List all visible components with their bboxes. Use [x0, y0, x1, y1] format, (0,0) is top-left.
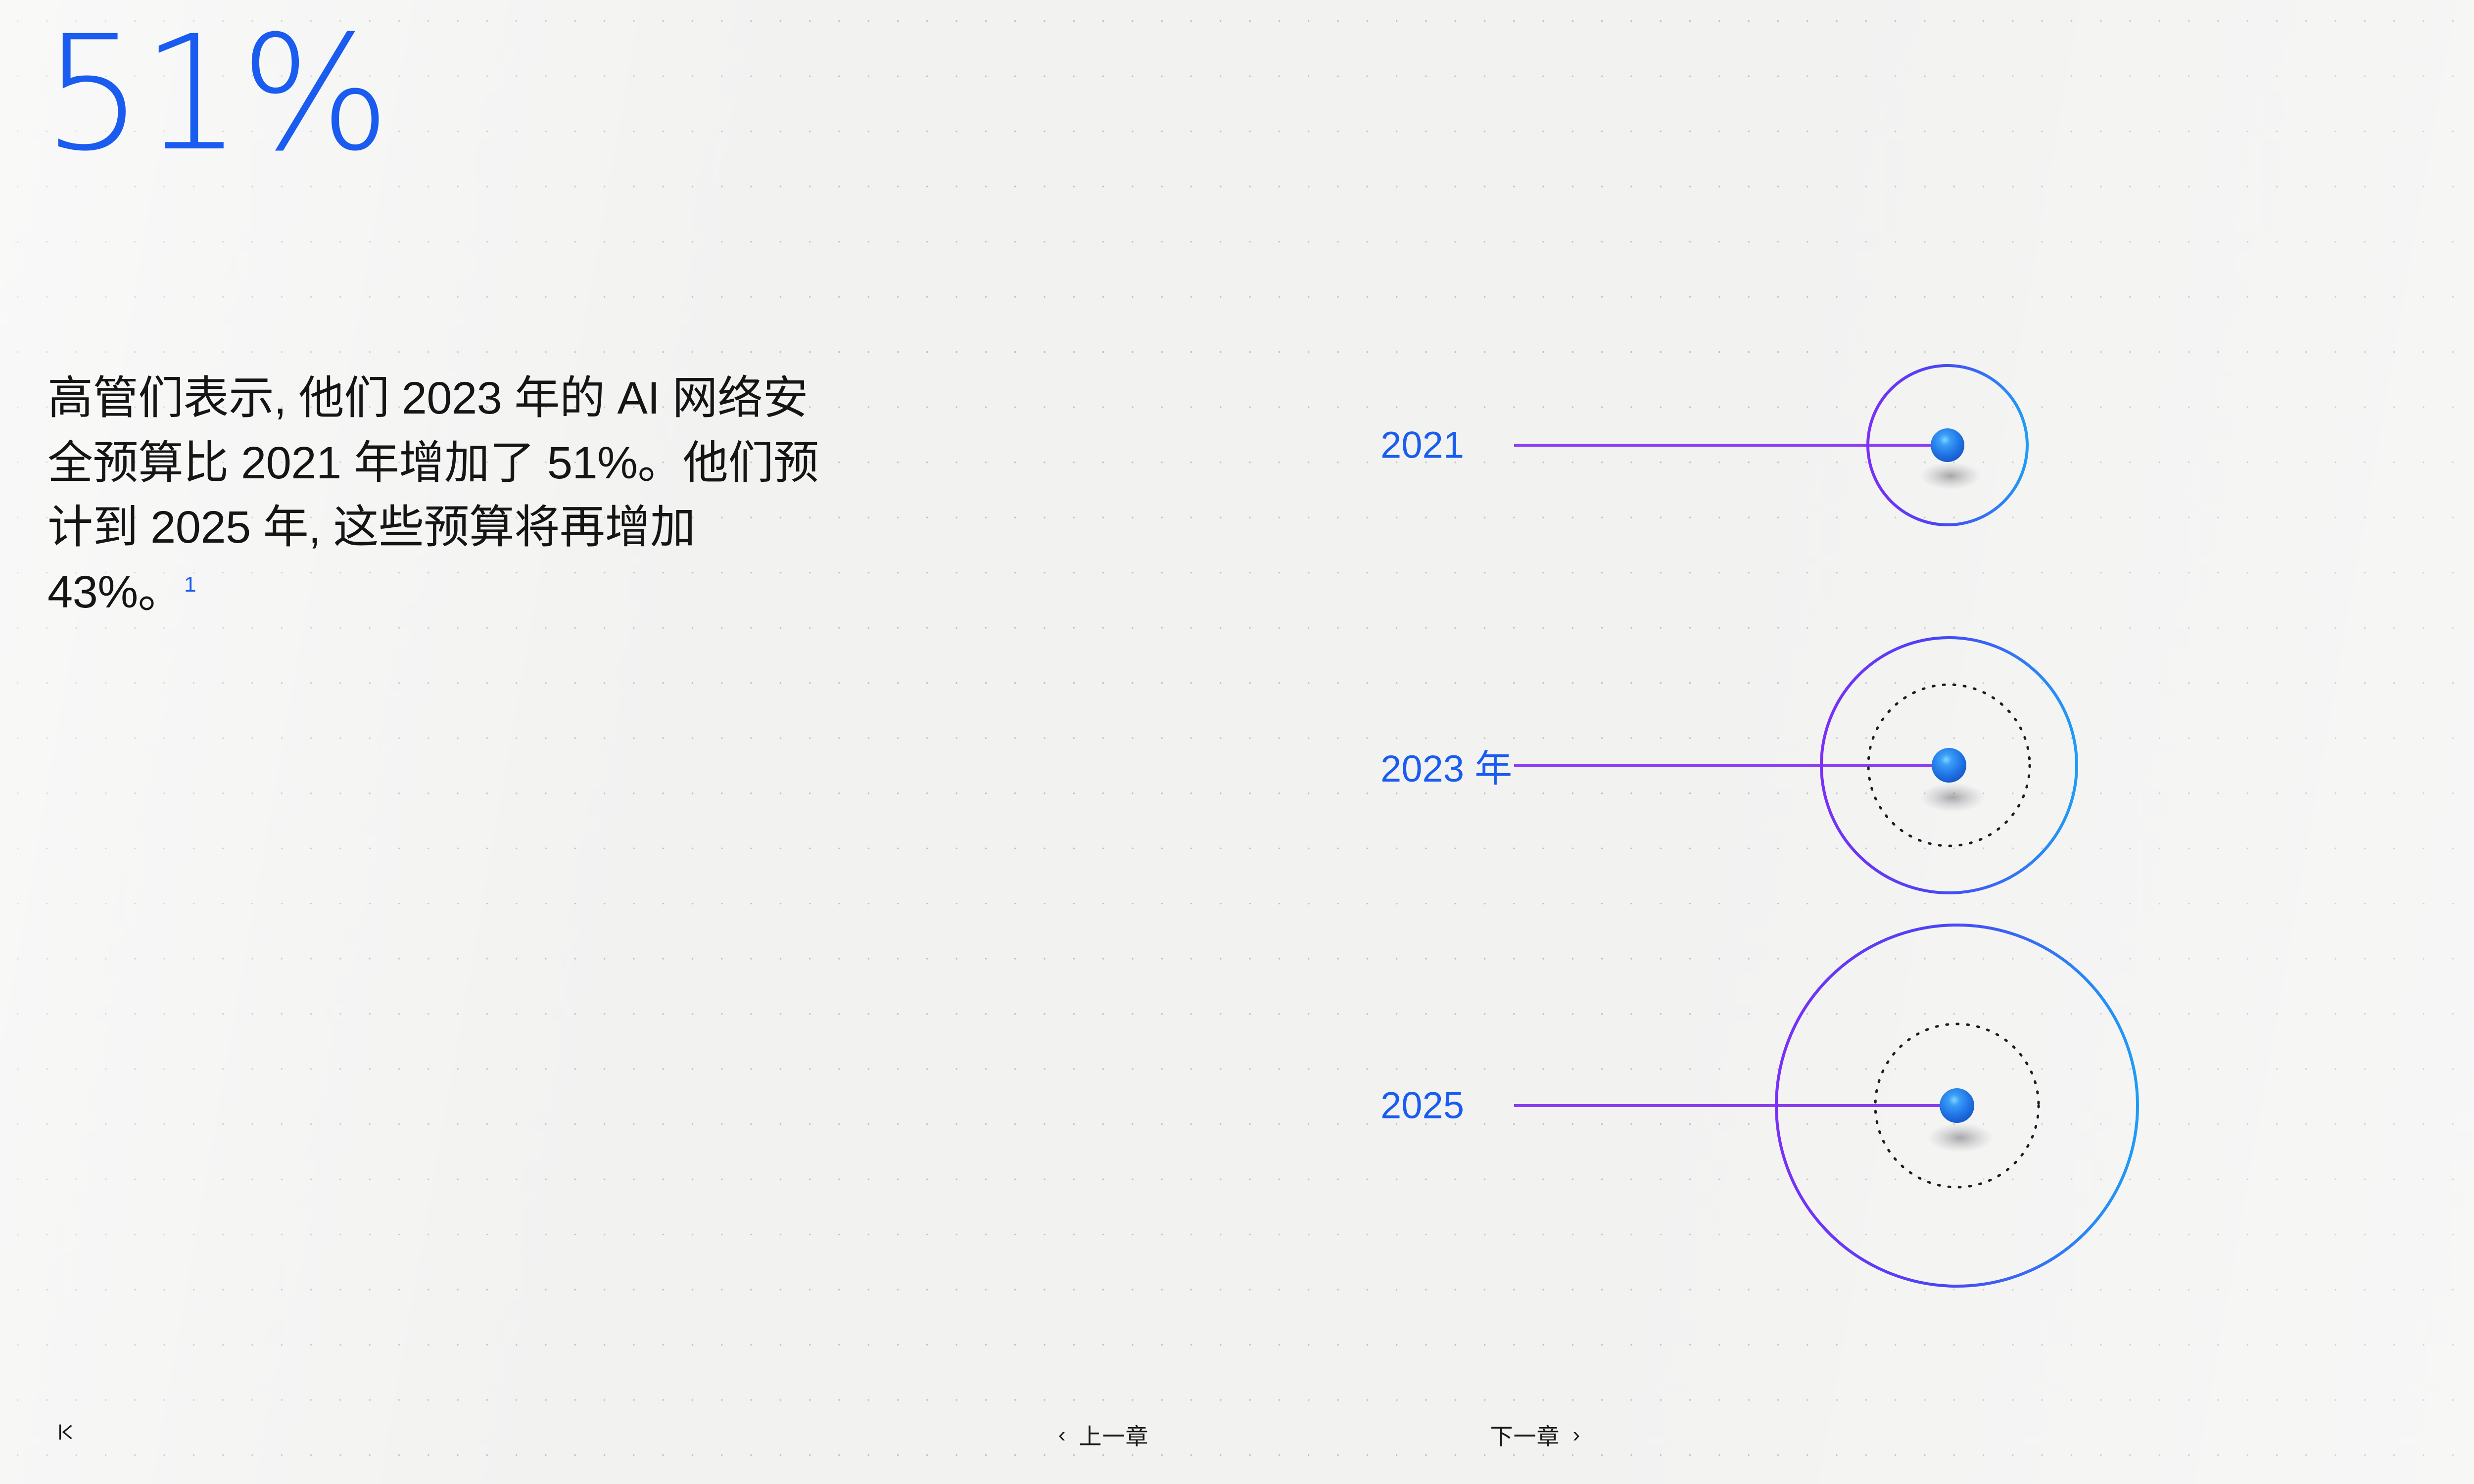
chapter-navigation: ‹ 上一章 下一章 ›: [1058, 1419, 1580, 1451]
previous-chapter-label: 上一章: [1079, 1419, 1149, 1451]
paper-sheen-overlay: [0, 0, 2474, 1484]
slide-page: 51% 高管们表示, 他们 2023 年的 AI 网络安全预算比 2021 年增…: [0, 0, 2474, 1484]
inner-dotted-circle-2025: [1875, 1024, 2039, 1187]
next-chapter-label: 下一章: [1490, 1419, 1560, 1451]
body-paragraph-text: 高管们表示, 他们 2023 年的 AI 网络安全预算比 2021 年增加了 5…: [48, 373, 818, 617]
skip-to-start-button[interactable]: [54, 1421, 77, 1443]
footnote-marker[interactable]: 1: [184, 572, 196, 597]
bubble-label-2025[interactable]: 2025: [1380, 1084, 1464, 1127]
sphere-shadow-2025: [1928, 1123, 1993, 1153]
bubble-node-2021[interactable]: [1514, 366, 2027, 525]
sphere-2021: [1931, 428, 1964, 462]
bubble-growth-diagram: [0, 0, 2474, 1484]
bubble-node-2023[interactable]: [1514, 638, 2077, 893]
bubble-node-2025[interactable]: [1514, 925, 2138, 1286]
next-chapter-button[interactable]: 下一章 ›: [1490, 1419, 1581, 1451]
bubble-label-2021[interactable]: 2021: [1380, 424, 1464, 467]
chevron-left-icon: ‹: [1058, 1424, 1066, 1446]
inner-dotted-circle-2023: [1868, 685, 2030, 846]
sphere-2025: [1940, 1088, 1974, 1123]
previous-chapter-button[interactable]: ‹ 上一章: [1058, 1419, 1149, 1451]
bottom-navigation-bar: ‹ 上一章 下一章 › 8: [0, 1390, 2474, 1484]
bubble-label-2023[interactable]: 2023 年: [1380, 738, 1512, 792]
sphere-shadow-2021: [1920, 462, 1981, 490]
body-paragraph: 高管们表示, 他们 2023 年的 AI 网络安全预算比 2021 年增加了 5…: [48, 366, 829, 625]
ring-circle-2025: [1776, 925, 2138, 1286]
sphere-2023: [1932, 748, 1966, 783]
skip-to-start-icon: [54, 1421, 77, 1443]
chevron-right-icon: ›: [1573, 1424, 1581, 1446]
dot-grid-background: [0, 0, 2474, 1484]
sphere-shadow-2023: [1920, 783, 1985, 812]
ring-circle-2021: [1868, 366, 2027, 525]
page-headline-stat: 51%: [43, 15, 388, 173]
ring-circle-2023: [1821, 638, 2077, 893]
